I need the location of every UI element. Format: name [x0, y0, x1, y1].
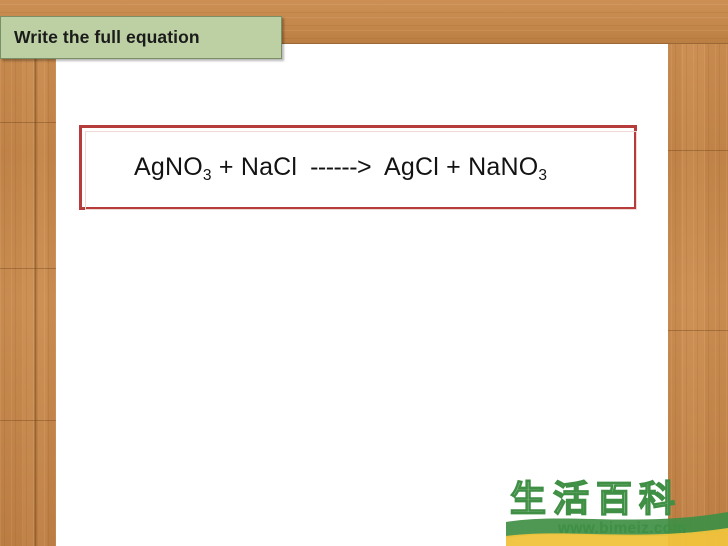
wood-plank-seam	[0, 268, 56, 269]
watermark-url: www.bimeiz.com	[558, 520, 687, 538]
chemical-equation: AgNO3 + NaCl ------> AgCl + NaNO3	[82, 155, 547, 180]
slide-title-banner: Write the full equation	[0, 16, 282, 59]
product-one-formula: AgCl	[384, 153, 439, 181]
watermark-char-3: 百	[596, 480, 632, 522]
watermark-char-1: 生	[510, 480, 546, 522]
watermark-char-2: 活	[553, 480, 589, 522]
plus-sign-two: +	[439, 153, 468, 181]
slide-canvas	[56, 44, 668, 546]
product-two-subscript: 3	[538, 167, 547, 184]
wood-plank-seam	[668, 330, 728, 331]
equation-box: AgNO3 + NaCl ------> AgCl + NaNO3	[79, 125, 637, 210]
wood-plank-seam	[0, 420, 56, 421]
slide-screenshot: Write the full equation AgNO3 + NaCl ---…	[0, 0, 728, 546]
watermark-characters: 生 活 百 科	[510, 480, 728, 522]
wood-plank-seam	[0, 122, 56, 123]
page-title: Write the full equation	[1, 27, 200, 48]
plus-sign-one: +	[212, 153, 241, 181]
reactant-one-formula: AgNO	[134, 153, 203, 181]
wood-plank-seam	[668, 150, 728, 151]
product-two-formula: NaNO	[468, 153, 538, 181]
watermark: 生 活 百 科 www.bimeiz.com	[506, 478, 728, 546]
reaction-arrow: ------>	[297, 153, 384, 181]
reactant-one-subscript: 3	[203, 167, 212, 184]
watermark-char-4: 科	[639, 480, 675, 522]
reactant-two-formula: NaCl	[241, 153, 297, 181]
